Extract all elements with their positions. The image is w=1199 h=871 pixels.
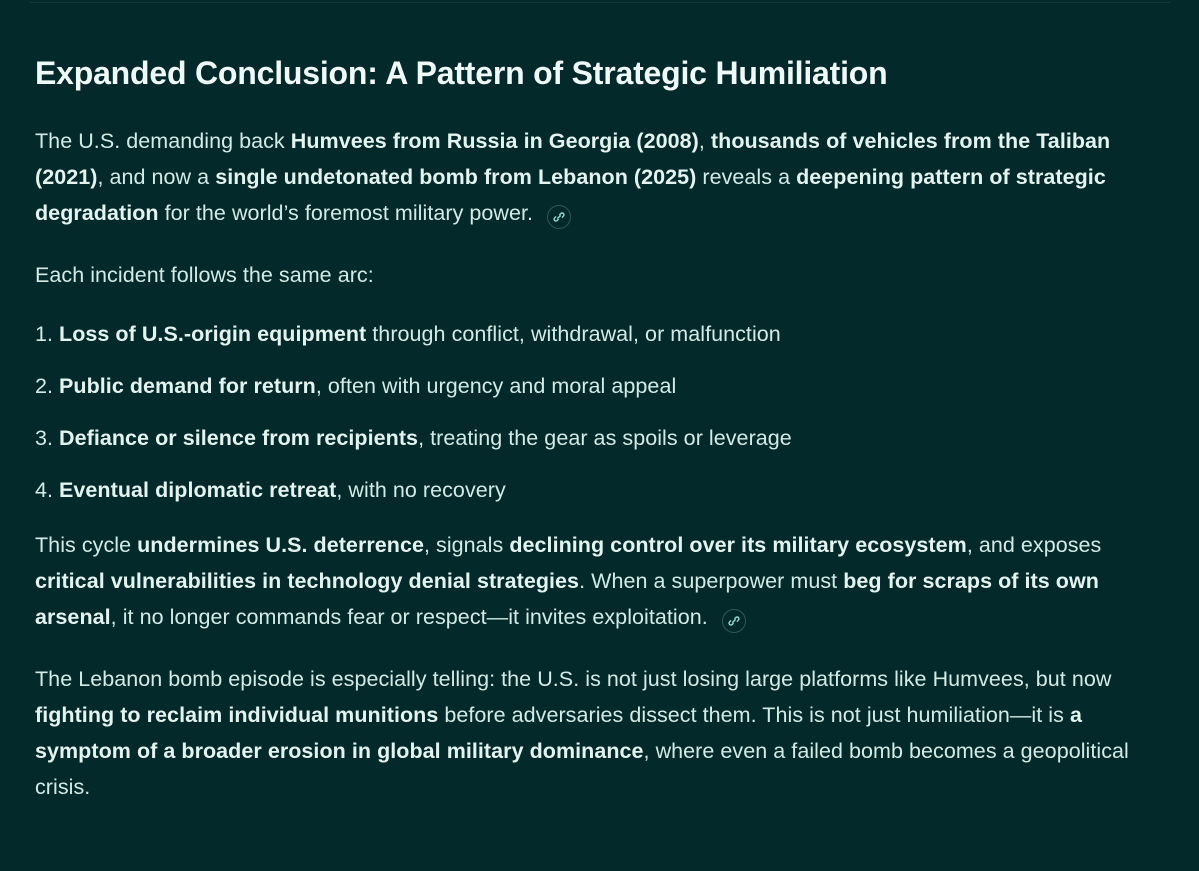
paragraph-lebanon: The Lebanon bomb episode is especially t… [35, 661, 1165, 805]
para1-text-1: The U.S. demanding back [35, 129, 291, 153]
list-item-rest: , treating the gear as spoils or leverag… [418, 426, 792, 450]
list-item-marker: 3. [35, 426, 53, 450]
para3-text-5: , it no longer commands fear or respect—… [111, 605, 714, 629]
para3-bold-2: declining control over its military ecos… [509, 533, 966, 557]
arc-list: 1.Loss of U.S.-origin equipment through … [35, 319, 1165, 505]
para4-text-1: The Lebanon bomb episode is especially t… [35, 667, 1111, 691]
list-item-bold: Public demand for return [59, 374, 316, 398]
document-body: Expanded Conclusion: A Pattern of Strate… [0, 0, 1199, 805]
para3-text-3: , and exposes [967, 533, 1102, 557]
list-item-marker: 1. [35, 322, 53, 346]
para3-text-4: . When a superpower must [579, 569, 843, 593]
para3-text-2: , signals [424, 533, 509, 557]
para4-text-2: before adversaries dissect them. This is… [438, 703, 1070, 727]
list-item-rest: , often with urgency and moral appeal [316, 374, 676, 398]
list-item-bold: Loss of U.S.-origin equipment [59, 322, 366, 346]
para1-text-5: for the world’s foremost military power. [159, 201, 539, 225]
para3-bold-1: undermines U.S. deterrence [137, 533, 424, 557]
para4-bold-1: fighting to reclaim individual munitions [35, 703, 438, 727]
page-title: Expanded Conclusion: A Pattern of Strate… [35, 54, 1165, 93]
list-item: 1.Loss of U.S.-origin equipment through … [35, 319, 1165, 349]
para1-text-2: , [699, 129, 711, 153]
paragraph-intro: The U.S. demanding back Humvees from Rus… [35, 123, 1165, 231]
para3-bold-3: critical vulnerabilities in technology d… [35, 569, 579, 593]
list-item: 4.Eventual diplomatic retreat, with no r… [35, 475, 1165, 505]
list-item-rest: through conflict, withdrawal, or malfunc… [366, 322, 781, 346]
link-icon[interactable] [722, 609, 746, 633]
list-item: 2.Public demand for return, often with u… [35, 371, 1165, 401]
para3-text-1: This cycle [35, 533, 137, 557]
list-item-rest: , with no recovery [336, 478, 505, 502]
paragraph-arc-lead: Each incident follows the same arc: [35, 257, 1165, 293]
page-root: Expanded Conclusion: A Pattern of Strate… [0, 0, 1199, 871]
para1-text-4: reveals a [696, 165, 796, 189]
para1-bold-3: single undetonated bomb from Lebanon (20… [215, 165, 696, 189]
para1-bold-1: Humvees from Russia in Georgia (2008) [291, 129, 699, 153]
para1-text-3: , and now a [97, 165, 215, 189]
list-item-marker: 4. [35, 478, 53, 502]
list-item-marker: 2. [35, 374, 53, 398]
paragraph-cycle: This cycle undermines U.S. deterrence, s… [35, 527, 1165, 635]
list-item-bold: Eventual diplomatic retreat [59, 478, 336, 502]
link-icon[interactable] [547, 205, 571, 229]
list-item-bold: Defiance or silence from recipients [59, 426, 418, 450]
list-item: 3.Defiance or silence from recipients, t… [35, 423, 1165, 453]
